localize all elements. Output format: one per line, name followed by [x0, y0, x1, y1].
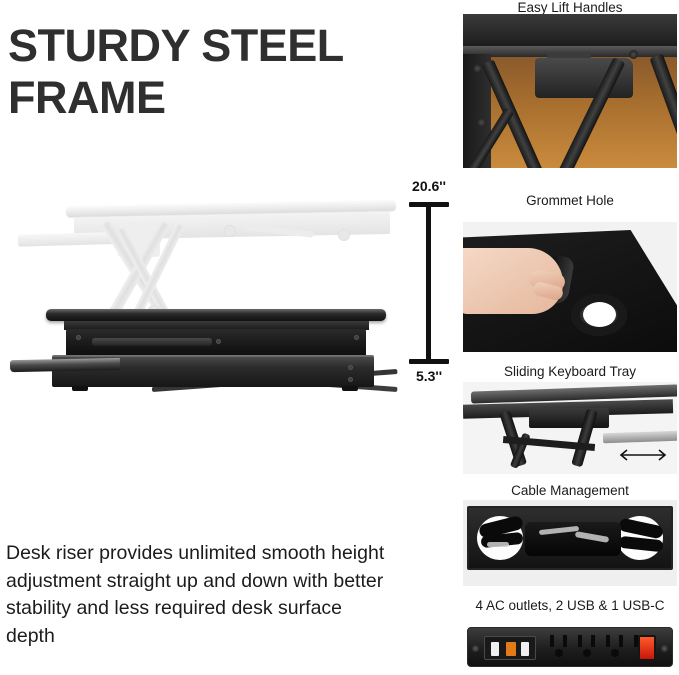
feature-photo-power-outlets [463, 625, 677, 669]
feature-photo-sliding-keyboard-tray [463, 382, 677, 474]
bolt-icon [473, 64, 482, 73]
cable-highlight [487, 542, 509, 547]
outlet-slot [550, 635, 554, 647]
min-height-label: 5.3'' [398, 368, 460, 384]
outlet-slot [578, 635, 582, 647]
max-height-label: 20.6'' [398, 178, 460, 194]
dimension-cap-bottom [409, 359, 449, 364]
power-strip [467, 627, 673, 667]
lift-mechanism [529, 408, 609, 428]
feature-photo-cable-management [463, 500, 677, 586]
feature-label-easy-lift-handles: Easy Lift Handles [462, 0, 678, 15]
height-dimension-marker: 20.6'' 5.3'' [398, 178, 460, 388]
base-foot [72, 386, 88, 391]
desk-underside [463, 14, 677, 50]
outlet-slot [563, 635, 567, 647]
usb-port-group [484, 636, 536, 660]
outlet-slot [591, 635, 595, 647]
slide-direction-arrow-icon [615, 448, 671, 462]
product-illustration [8, 185, 398, 450]
base-foot [342, 386, 358, 391]
feature-label-power-outlets: 4 AC outlets, 2 USB & 1 USB-C [462, 598, 678, 613]
outlet-slot [606, 635, 610, 647]
base-screw [348, 365, 353, 370]
frame-screw [216, 339, 221, 344]
ac-outlet [602, 635, 628, 661]
mount-screw [472, 645, 479, 652]
frame-screw [76, 335, 81, 340]
cable-tray [467, 506, 673, 570]
mount-screw [661, 645, 668, 652]
usb-a-port [521, 642, 529, 656]
outlet-slot [619, 635, 623, 647]
keyboard-tray-extended [603, 431, 677, 444]
outlet-ground [611, 649, 619, 657]
keyboard-tray [10, 358, 120, 372]
description-text: Desk riser provides unlimited smooth hei… [6, 540, 396, 651]
ac-outlet [574, 635, 600, 661]
usb-a-port [491, 642, 499, 656]
feature-photo-easy-lift-handles [463, 14, 677, 168]
feature-photo-grommet-hole [463, 222, 677, 352]
feature-label-grommet-hole: Grommet Hole [462, 193, 678, 208]
desktop-surface [46, 309, 386, 321]
ac-outlet [546, 635, 572, 661]
grommet-opening [583, 302, 616, 327]
riser-lowered-solid [8, 293, 398, 405]
bolt-icon [629, 50, 638, 59]
base-screw [348, 377, 353, 382]
feature-label-sliding-keyboard-tray: Sliding Keyboard Tray [462, 364, 678, 379]
usb-c-port [506, 642, 516, 656]
slide-rail [92, 338, 212, 346]
outlet-ground [583, 649, 591, 657]
power-switch[interactable] [638, 635, 656, 661]
bolt-icon [477, 118, 486, 127]
outlet-ground [555, 649, 563, 657]
ghost-pivot [224, 225, 236, 237]
ghost-pivot [338, 229, 350, 241]
frame-screw [354, 335, 359, 340]
infographic-root: STURDY STEEL FRAME [0, 0, 679, 675]
feature-label-cable-management: Cable Management [462, 483, 678, 498]
page-title: STURDY STEEL FRAME [8, 20, 448, 124]
dimension-shaft [426, 204, 431, 361]
